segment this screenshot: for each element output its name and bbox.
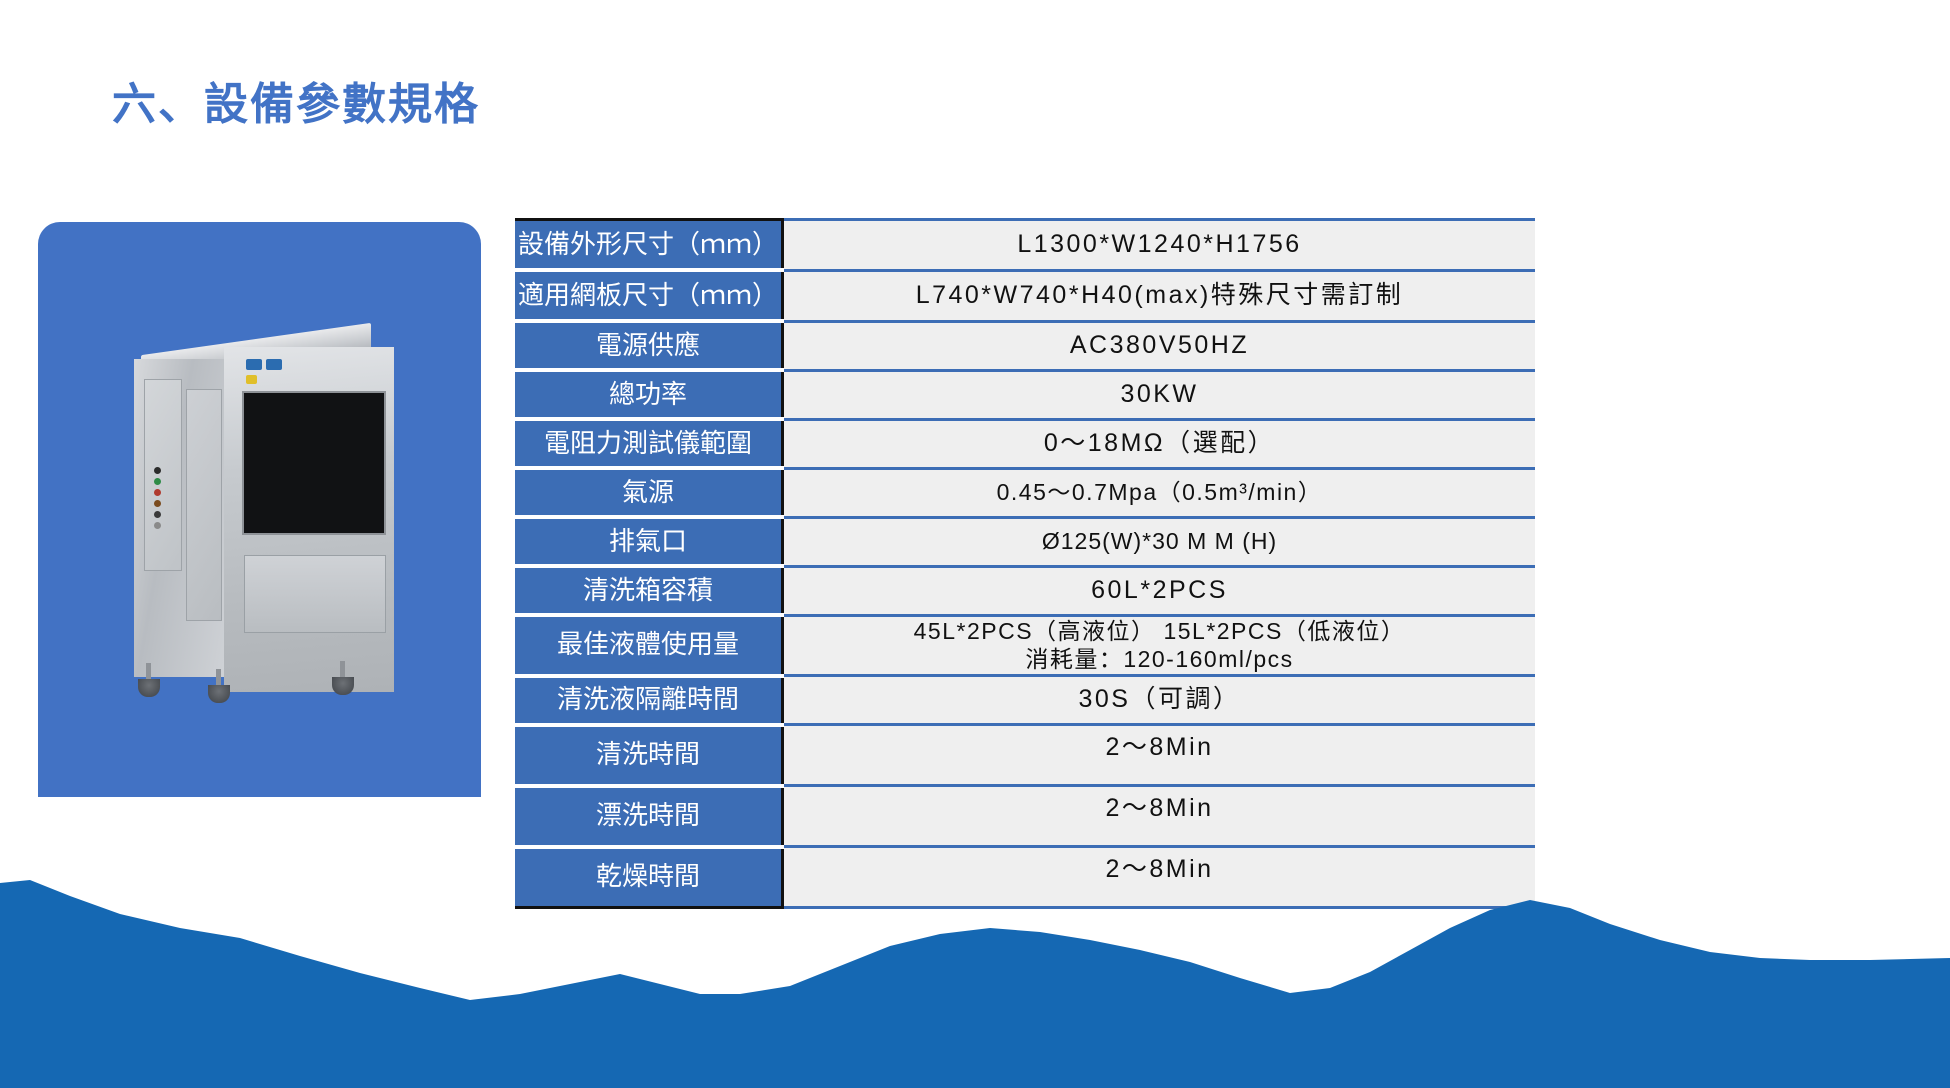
spec-value-1: L740*W740*H40(max)特殊尺寸需訂制 [783,270,1536,321]
machine-warning-label-blue [246,359,262,370]
slide-root: 六、設備參數規格 [0,0,1950,1088]
spec-value-8-line2: 消耗量：120-160ml/pcs [784,645,1535,674]
spec-label-10: 清洗時間 [515,725,783,786]
spec-label-0: 設備外形尺寸（ｍｍ） [515,220,783,271]
spec-value-12: 2～8Min [783,847,1536,908]
table-row: 電阻力測試儀範圍 0～18MΩ（選配） [515,419,1535,468]
machine-foot-1 [138,679,160,697]
spec-label-12: 乾燥時間 [515,847,783,908]
machine-foot-2 [208,685,230,703]
spec-label-3: 總功率 [515,370,783,419]
table-row: 設備外形尺寸（ｍｍ） L1300*W1240*H1756 [515,220,1535,271]
table-row: 漂洗時間 2～8Min [515,786,1535,847]
spec-label-7: 清洗箱容積 [515,566,783,615]
spec-label-8: 最佳液體使用量 [515,615,783,676]
spec-value-3: 30KW [783,370,1536,419]
spec-value-0: L1300*W1240*H1756 [783,220,1536,271]
spec-value-6: Ø125(W)*30 M M (H) [783,517,1536,566]
spec-label-5: 氣源 [515,468,783,517]
spec-value-7: 60L*2PCS [783,566,1536,615]
spec-value-9: 30S（可調） [783,676,1536,725]
stencil-cleaning-machine-photo [96,287,426,727]
spec-label-2: 電源供應 [515,321,783,370]
spec-value-5: 0.45～0.7Mpa（0.5m³/min） [783,468,1536,517]
equipment-spec-table: 設備外形尺寸（ｍｍ） L1300*W1240*H1756 適用網板尺寸（ｍｍ） … [515,218,1535,909]
spec-label-1: 適用網板尺寸（ｍｍ） [515,270,783,321]
spec-value-11: 2～8Min [783,786,1536,847]
product-photo-panel [38,222,481,797]
spec-label-4: 電阻力測試儀範圍 [515,419,783,468]
table-row: 適用網板尺寸（ｍｍ） L740*W740*H40(max)特殊尺寸需訂制 [515,270,1535,321]
table-row: 清洗液隔離時間 30S（可調） [515,676,1535,725]
table-row: 最佳液體使用量 45L*2PCS（高液位） 15L*2PCS（低液位） 消耗量：… [515,615,1535,676]
table-row: 清洗箱容積 60L*2PCS [515,566,1535,615]
page-title: 六、設備參數規格 [112,68,480,132]
machine-side-door-lower [186,389,222,621]
table-row: 清洗時間 2～8Min [515,725,1535,786]
spec-value-4: 0～18MΩ（選配） [783,419,1536,468]
machine-warning-label-blue-2 [266,359,282,370]
table-row: 排氣口 Ø125(W)*30 M M (H) [515,517,1535,566]
spec-label-9: 清洗液隔離時間 [515,676,783,725]
table-row: 氣源 0.45～0.7Mpa（0.5m³/min） [515,468,1535,517]
table-row: 電源供應 AC380V50HZ [515,321,1535,370]
spec-value-10: 2～8Min [783,725,1536,786]
spec-value-8: 45L*2PCS（高液位） 15L*2PCS（低液位） 消耗量：120-160m… [783,615,1536,676]
spec-label-6: 排氣口 [515,517,783,566]
machine-viewing-window [242,391,386,535]
spec-label-11: 漂洗時間 [515,786,783,847]
table-row: 乾燥時間 2～8Min [515,847,1535,908]
table-row: 總功率 30KW [515,370,1535,419]
spec-value-8-line1: 45L*2PCS（高液位） 15L*2PCS（低液位） [784,617,1535,646]
machine-foot-3 [332,677,354,695]
spec-value-2: AC380V50HZ [783,321,1536,370]
machine-control-buttons [151,465,173,511]
machine-lower-panel [244,555,386,633]
machine-warning-label-yellow [246,375,257,384]
